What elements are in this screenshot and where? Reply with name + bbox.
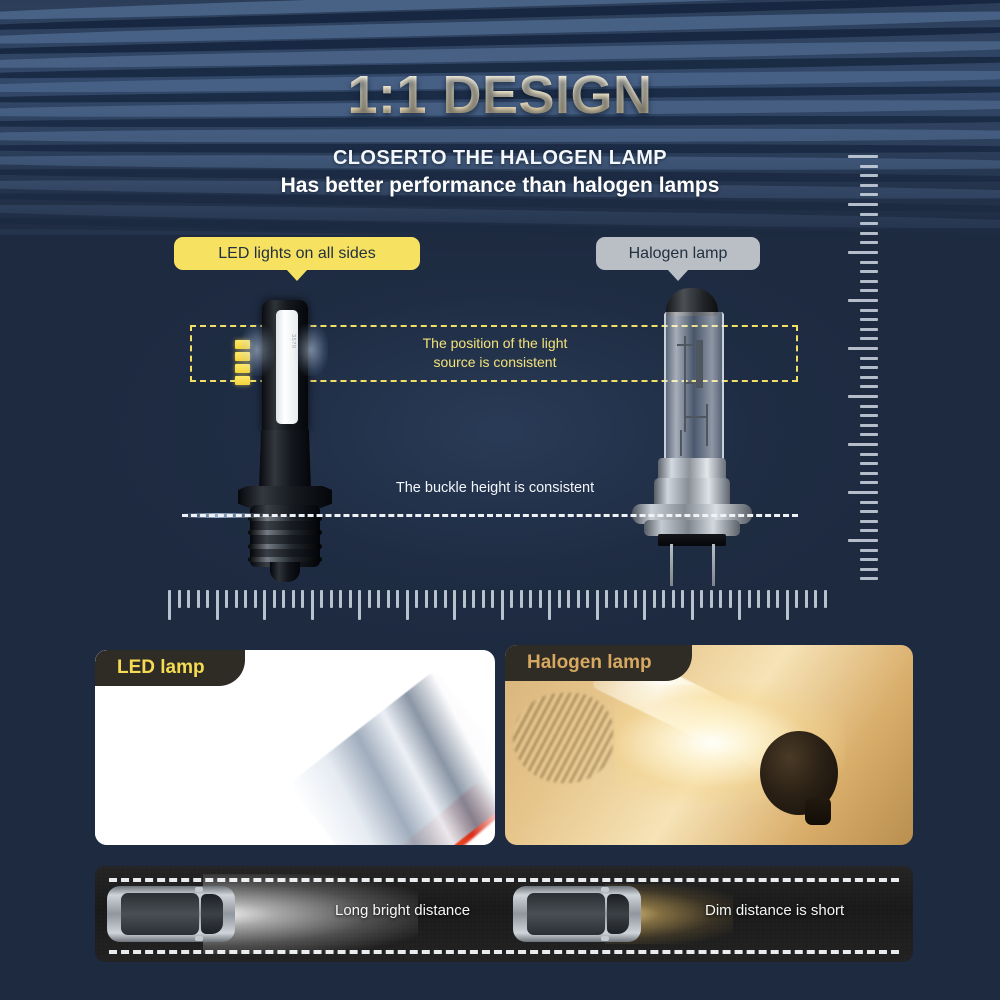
ruler-tick [848, 203, 878, 206]
callout-led-label: LED lights on all sides [218, 245, 375, 263]
led-side-glow [294, 324, 328, 376]
ruler-tick [786, 590, 789, 620]
car-mirror [195, 887, 203, 892]
ruler-tick [482, 590, 485, 608]
ruler-tick [860, 462, 878, 465]
beam-comparison-strip: Long bright distance Dim distance is sho… [95, 866, 913, 962]
ruler-tick [187, 590, 190, 608]
ruler-tick [860, 529, 878, 532]
ruler-tick [178, 590, 181, 608]
halogen-bulb-leg [712, 544, 715, 586]
ruler-tick [860, 453, 878, 456]
ruler-tick [596, 590, 599, 620]
car-mirror [601, 936, 609, 941]
ruler-tick [301, 590, 304, 608]
led-side-glow [240, 324, 274, 376]
page-title: 1:1 DESIGN [0, 64, 1000, 126]
halogen-bulb-leg [670, 544, 673, 586]
ruler-tick [605, 590, 608, 608]
ruler-tick [860, 549, 878, 552]
car-mirror [601, 887, 609, 892]
ruler-tick [567, 590, 570, 608]
ruler-tick [848, 299, 878, 302]
halogen-filament [706, 404, 708, 446]
halogen-filament [677, 344, 693, 346]
ruler-tick [824, 590, 827, 608]
ruler-tick [387, 590, 390, 608]
ruler-tick [860, 376, 878, 379]
ruler-tick [710, 590, 713, 608]
ruler-tick [444, 590, 447, 608]
ruler-tick [860, 309, 878, 312]
ruler-tick [244, 590, 247, 608]
ruler-tick [653, 590, 656, 608]
ruler-tick [729, 590, 732, 608]
ruler-tick [860, 405, 878, 408]
ruler-tick [368, 590, 371, 608]
ruler-tick [848, 395, 878, 398]
ruler-tick [860, 385, 878, 388]
ruler-tick [848, 491, 878, 494]
ruler-tick [235, 590, 238, 608]
ruler-tick [860, 481, 878, 484]
ruler-tick [330, 590, 333, 608]
ruler-tick [263, 590, 266, 620]
ruler-tick [860, 213, 878, 216]
ruler-tick [700, 590, 703, 608]
ruler-tick [860, 165, 878, 168]
ruler-tick [860, 222, 878, 225]
halogen-photo-coil [513, 693, 613, 783]
halogen-lamp-tab: Halogen lamp [505, 645, 692, 681]
buckle-height-baseline [182, 514, 798, 517]
ruler-tick [624, 590, 627, 608]
ruler-tick [748, 590, 751, 608]
ruler-tick [776, 590, 779, 608]
ruler-tick [860, 366, 878, 369]
ruler-tick [577, 590, 580, 608]
ruler-tick [225, 590, 228, 608]
ruler-tick [453, 590, 456, 620]
ruler-tick [415, 590, 418, 608]
ruler-tick [396, 590, 399, 608]
halogen-lamp-tab-label: Halogen lamp [527, 652, 652, 674]
ruler-tick [320, 590, 323, 608]
halogen-bulb-seal [658, 534, 726, 546]
ruler-tick [860, 433, 878, 436]
halogen-photo-stem [805, 797, 831, 825]
led-beam-caption: Long bright distance [335, 902, 470, 919]
light-source-note: The position of the light source is cons… [400, 334, 590, 372]
ruler-tick [814, 590, 817, 608]
ruler-tick [349, 590, 352, 608]
ruler-tick [463, 590, 466, 608]
car-cabin [121, 893, 199, 935]
vertical-ruler [820, 155, 878, 585]
halogen-bulb-image [628, 288, 756, 588]
ruler-tick [406, 590, 409, 620]
ruler-tick [757, 590, 760, 608]
horizontal-ruler [168, 590, 832, 624]
led-base-ring [248, 544, 322, 549]
header-stripe [0, 128, 1000, 143]
ruler-tick [860, 270, 878, 273]
ruler-tick [848, 443, 878, 446]
led-bulb-image: 3570 [232, 300, 336, 585]
ruler-tick [206, 590, 209, 608]
led-bulb-taper [259, 430, 311, 490]
car-halogen [513, 886, 641, 942]
ruler-tick [860, 318, 878, 321]
light-source-note-line2: source is consistent [400, 353, 590, 372]
halogen-filament [696, 340, 703, 388]
ruler-tick [662, 590, 665, 608]
ruler-tick [860, 289, 878, 292]
ruler-tick [848, 539, 878, 542]
ruler-tick [860, 424, 878, 427]
callout-led-tail [286, 269, 308, 281]
car-mirror [195, 936, 203, 941]
ruler-tick [860, 414, 878, 417]
ruler-tick [539, 590, 542, 608]
callout-halogen-label: Halogen lamp [629, 245, 728, 263]
ruler-tick [558, 590, 561, 608]
car-windshield [201, 894, 223, 934]
ruler-tick [311, 590, 314, 620]
buckle-height-note: The buckle height is consistent [330, 480, 660, 496]
ruler-tick [860, 184, 878, 187]
ruler-tick [216, 590, 219, 620]
ruler-tick [472, 590, 475, 608]
led-lamp-tab-label: LED lamp [117, 657, 205, 679]
ruler-tick [691, 590, 694, 620]
callout-led-lights: LED lights on all sides [174, 237, 420, 270]
ruler-tick [491, 590, 494, 608]
ruler-tick [860, 174, 878, 177]
ruler-tick [643, 590, 646, 620]
car-cabin [527, 893, 605, 935]
halogen-filament [680, 430, 682, 456]
led-bulb-tip [270, 562, 300, 582]
ruler-tick [767, 590, 770, 608]
ruler-tick [860, 241, 878, 244]
ruler-tick [425, 590, 428, 608]
ruler-tick [520, 590, 523, 608]
halogen-bulb-glass [664, 312, 724, 462]
car-windshield [607, 894, 629, 934]
ruler-tick [548, 590, 551, 620]
halogen-beam-caption: Dim distance is short [705, 902, 844, 919]
ruler-tick [339, 590, 342, 608]
halogen-filament [684, 382, 703, 384]
ruler-tick [738, 590, 741, 620]
ruler-tick [860, 328, 878, 331]
ruler-tick [860, 510, 878, 513]
ruler-tick [615, 590, 618, 608]
halogen-filament [684, 416, 708, 418]
halogen-lamp-photo-panel: Halogen lamp [505, 645, 913, 845]
ruler-tick [510, 590, 513, 608]
ruler-tick [273, 590, 276, 608]
ruler-tick [377, 590, 380, 608]
led-base-ring [248, 530, 322, 535]
ruler-tick [860, 501, 878, 504]
car-led [107, 886, 235, 942]
ruler-tick [168, 590, 171, 620]
ruler-tick [848, 155, 878, 158]
product-infographic: 1:1 DESIGN CLOSERTO THE HALOGEN LAMP Has… [0, 0, 1000, 1000]
ruler-tick [197, 590, 200, 608]
ruler-tick [358, 590, 361, 620]
ruler-tick [434, 590, 437, 608]
ruler-tick [860, 472, 878, 475]
ruler-tick [292, 590, 295, 608]
ruler-tick [848, 347, 878, 350]
ruler-tick [860, 193, 878, 196]
ruler-tick [860, 558, 878, 561]
light-source-note-line1: The position of the light [400, 334, 590, 353]
ruler-tick [254, 590, 257, 608]
led-lamp-tab: LED lamp [95, 650, 245, 686]
ruler-tick [634, 590, 637, 608]
ruler-tick [805, 590, 808, 608]
ruler-tick [586, 590, 589, 608]
ruler-tick [501, 590, 504, 620]
ruler-tick [860, 520, 878, 523]
ruler-tick [719, 590, 722, 608]
ruler-tick [860, 280, 878, 283]
ruler-tick [860, 232, 878, 235]
callout-halogen-lamp: Halogen lamp [596, 237, 760, 270]
ruler-tick [848, 251, 878, 254]
ruler-tick [860, 337, 878, 340]
callout-halogen-tail [667, 269, 689, 281]
ruler-tick [672, 590, 675, 608]
ruler-tick [681, 590, 684, 608]
ruler-tick [860, 568, 878, 571]
led-lamp-photo-panel: LED lamp [95, 650, 495, 845]
ruler-tick [860, 261, 878, 264]
ruler-tick [529, 590, 532, 608]
ruler-tick [860, 577, 878, 580]
ruler-tick [282, 590, 285, 608]
ruler-tick [795, 590, 798, 608]
led-chip [235, 376, 250, 385]
ruler-tick [860, 357, 878, 360]
